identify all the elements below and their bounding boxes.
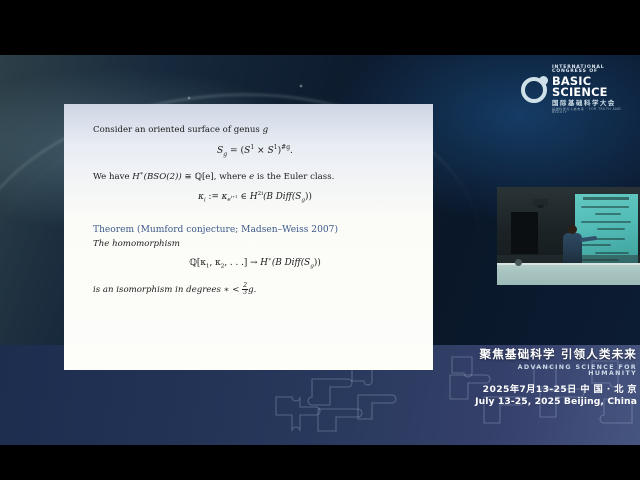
logo-line-tagline: 基础科学与人类未来 · FOR TRUTH AND BEAUTY xyxy=(552,108,633,114)
front-desk xyxy=(497,263,640,285)
logo-wordmark: INTERNATIONAL CONGRESS OF BASIC SCIENCE … xyxy=(552,66,633,115)
theorem-heading: Theorem (Mumford conjecture; Madsen–Weis… xyxy=(93,225,417,235)
theorem-lead-in: The homomorphism xyxy=(93,239,417,249)
slide-line-euler-class: We have H∗(BSO(2)) ≅ ℚ[e], where e is th… xyxy=(93,171,417,182)
letterbox-bottom xyxy=(0,445,640,480)
event-date-english: July 13-25, 2025 Beijing, China xyxy=(467,397,637,406)
speaker-figure xyxy=(563,233,582,266)
presentation-slide: Consider an oriented surface of genus g … xyxy=(64,104,433,370)
congress-ring-logo-icon xyxy=(521,77,547,103)
doorway xyxy=(511,212,538,254)
slogan-english: ADVANCING SCIENCE FOR HUMANITY xyxy=(467,365,637,378)
sparkle-icon xyxy=(188,97,190,99)
video-frame: INTERNATIONAL CONGRESS OF BASIC SCIENCE … xyxy=(0,0,640,480)
equation-homomorphism: ℚ[κ1, κ2, . . .] → H∗(B Diff(Sg)) xyxy=(93,257,417,270)
congress-logo: INTERNATIONAL CONGRESS OF BASIC SCIENCE … xyxy=(521,72,633,108)
speaker-head xyxy=(568,225,577,234)
slide-content: Consider an oriented surface of genus g … xyxy=(93,126,417,297)
equation-genus-surface: Sg = (S1 × S1)#g. xyxy=(93,144,417,158)
equation-kappa-definition: κi := κei+1 ∈ H2i(B Diff(Sg)) xyxy=(93,191,417,204)
event-slogan-block: 聚焦基础科学 引领人类未来 ADVANCING SCIENCE FOR HUMA… xyxy=(467,349,637,407)
projector-icon xyxy=(533,199,548,206)
logo-line-basic-science: BASIC SCIENCE xyxy=(552,76,633,99)
sparkle-icon xyxy=(300,85,302,87)
letterbox-top xyxy=(0,0,640,55)
speaker-video-inset[interactable] xyxy=(497,187,640,285)
logo-line-chinese: 国际基础科学大会 xyxy=(552,100,633,106)
slogan-chinese: 聚焦基础科学 引领人类未来 xyxy=(467,349,637,361)
theorem-conclusion: is an isomorphism in degrees ∗ < 23g. xyxy=(93,283,417,297)
slide-line-intro: Consider an oriented surface of genus g xyxy=(93,126,417,135)
event-date-chinese: 2025年7月13-25日 中 国 · 北 京 xyxy=(467,385,637,394)
projected-slide xyxy=(575,194,638,264)
microphone-icon xyxy=(515,259,522,266)
